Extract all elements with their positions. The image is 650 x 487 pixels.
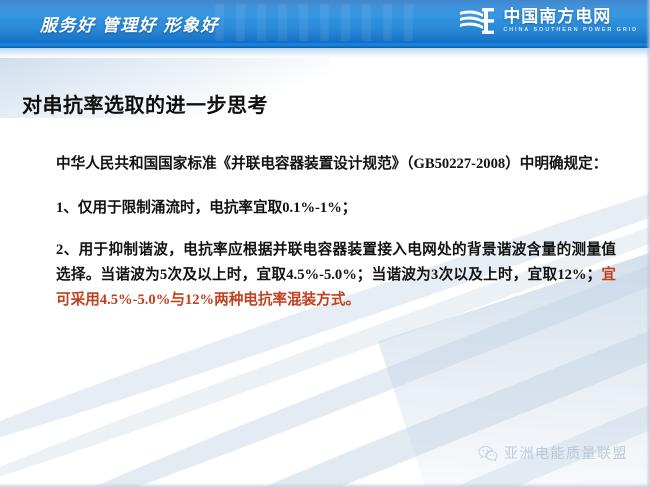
paragraph-intro: 中华人民共和国国家标准《并联电容器装置设计规范》（GB50227-2008）中明… (56, 152, 616, 177)
watermark-label: 亚洲电能质量联盟 (504, 443, 628, 463)
page-title: 对串抗率选取的进一步思考 (22, 89, 268, 118)
header-slogan: 服务好 管理好 形象好 (40, 11, 219, 36)
logo-text-block: 中国南方电网 CHINA SOUTHERN POWER GRID (503, 8, 638, 34)
slide-body: 中华人民共和国国家标准《并联电容器装置设计规范》（GB50227-2008）中明… (56, 152, 616, 313)
footer-watermark: 亚洲电能质量联盟 (478, 443, 628, 463)
header-ghost-texture (215, 4, 425, 46)
header-underline-strip (0, 48, 650, 58)
power-grid-tower-icon (458, 6, 496, 36)
paragraph-item-1: 1、仅用于限制涌流时，电抗率宜取0.1%-1%； (56, 196, 616, 221)
wechat-icon (478, 445, 498, 462)
slide-right-edge (646, 0, 650, 487)
slide-bottom-edge (0, 483, 650, 487)
logo-name-en: CHINA SOUTHERN POWER GRID (503, 28, 638, 34)
presentation-slide: 服务好 管理好 形象好 中国南方电网 CHINA SOUTHERN POWER … (0, 0, 650, 487)
paragraph-item-2-text: 2、用于抑制谐波，电抗率应根据并联电容器装置接入电网处的背景谐波含量的测量值选择… (56, 242, 616, 283)
swoosh-band-5 (205, 327, 650, 487)
logo-name-cn: 中国南方电网 (503, 8, 638, 25)
company-logo: 中国南方电网 CHINA SOUTHERN POWER GRID (458, 6, 638, 36)
slide-header-banner: 服务好 管理好 形象好 中国南方电网 CHINA SOUTHERN POWER … (0, 0, 650, 48)
paragraph-item-2: 2、用于抑制谐波，电抗率应根据并联电容器装置接入电网处的背景谐波含量的测量值选择… (56, 238, 616, 313)
